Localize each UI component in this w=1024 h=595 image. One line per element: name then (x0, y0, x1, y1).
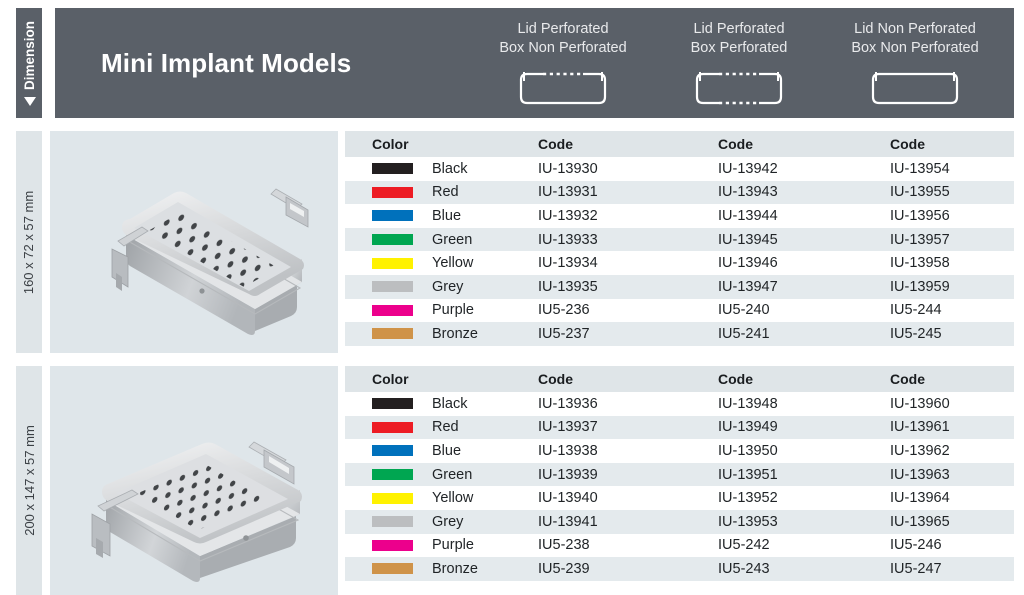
cell-color: Bronze (345, 326, 538, 342)
cell-code-2: IU5-242 (718, 536, 890, 554)
dimension-tab-label: Dimension (22, 20, 37, 89)
dimension-label-section-1: 160 x 72 x 57 mm (16, 131, 42, 353)
color-name: Green (432, 232, 472, 248)
cell-code-2: IU-13942 (718, 160, 890, 178)
cell-code-1: IU-13939 (538, 466, 718, 484)
column-header-color: Color (345, 136, 538, 152)
cell-code-2: IU5-240 (718, 301, 890, 319)
table-row[interactable]: RedIU-13931IU-13943IU-13955 (345, 181, 1014, 205)
cell-code-1: IU-13932 (538, 207, 718, 225)
cell-code-2: IU-13943 (718, 183, 890, 201)
cell-code-3: IU-13962 (890, 442, 1014, 460)
header-column-lid-perforated-box-non-perforated: Lid Perforated Box Non Perforated (475, 8, 651, 118)
header-column-line2: Box Non Perforated (499, 39, 626, 58)
color-swatch-icon (372, 493, 413, 504)
color-swatch-icon (372, 398, 413, 409)
cell-code-1: IU5-238 (538, 536, 718, 554)
color-swatch-icon (372, 445, 413, 456)
column-header-code-3: Code (890, 371, 1014, 387)
color-name: Yellow (432, 255, 473, 271)
color-swatch-icon (372, 305, 413, 316)
page-header: Mini Implant Models Lid Perforated Box N… (55, 8, 1014, 118)
cell-code-3: IU-13963 (890, 466, 1014, 484)
cell-code-3: IU-13957 (890, 231, 1014, 249)
table-row[interactable]: GreenIU-13939IU-13951IU-13963 (345, 463, 1014, 487)
table-row[interactable]: BronzeIU5-239IU5-243IU5-247 (345, 557, 1014, 581)
cell-color: Black (345, 161, 538, 177)
cell-code-3: IU-13961 (890, 418, 1014, 436)
cell-color: Green (345, 232, 538, 248)
color-name: Purple (432, 537, 474, 553)
product-photo-section-1 (50, 131, 338, 353)
cell-code-3: IU-13955 (890, 183, 1014, 201)
cell-code-1: IU-13930 (538, 160, 718, 178)
color-swatch-icon (372, 469, 413, 480)
cell-code-1: IU-13938 (538, 442, 718, 460)
cell-code-3: IU-13965 (890, 513, 1014, 531)
cell-code-2: IU-13945 (718, 231, 890, 249)
column-header-code-3: Code (890, 136, 1014, 152)
cell-code-2: IU5-243 (718, 560, 890, 578)
table-row[interactable]: PurpleIU5-236IU5-240IU5-244 (345, 299, 1014, 323)
cell-color: Bronze (345, 561, 538, 577)
cell-code-1: IU5-236 (538, 301, 718, 319)
cell-code-1: IU-13933 (538, 231, 718, 249)
table-row[interactable]: BlueIU-13932IU-13944IU-13956 (345, 204, 1014, 228)
color-swatch-icon (372, 516, 413, 527)
table-row[interactable]: YellowIU-13940IU-13952IU-13964 (345, 486, 1014, 510)
table-row[interactable]: RedIU-13937IU-13949IU-13961 (345, 416, 1014, 440)
cell-code-2: IU5-241 (718, 325, 890, 343)
color-name: Blue (432, 443, 461, 459)
cell-code-1: IU5-237 (538, 325, 718, 343)
color-name: Green (432, 467, 472, 483)
cell-code-3: IU5-247 (890, 560, 1014, 578)
product-table-section-1: ColorCodeCodeCodeBlackIU-13930IU-13942IU… (345, 131, 1014, 346)
cell-code-1: IU-13934 (538, 254, 718, 272)
cell-code-3: IU5-246 (890, 536, 1014, 554)
cell-code-3: IU-13954 (890, 160, 1014, 178)
dimension-label-section-2: 200 x 147 x 57 mm (16, 366, 42, 595)
cell-color: Purple (345, 537, 538, 553)
cell-color: Red (345, 184, 538, 200)
cell-code-1: IU5-239 (538, 560, 718, 578)
header-column-line1: Lid Non Perforated (854, 20, 976, 39)
column-header-code-2: Code (718, 136, 890, 152)
column-header-code-1: Code (538, 371, 718, 387)
color-swatch-icon (372, 281, 413, 292)
product-table-section-2: ColorCodeCodeCodeBlackIU-13936IU-13948IU… (345, 366, 1014, 581)
dimension-tab[interactable]: Dimension (16, 8, 42, 118)
table-row[interactable]: GreenIU-13933IU-13945IU-13957 (345, 228, 1014, 252)
cell-code-2: IU-13950 (718, 442, 890, 460)
cell-color: Yellow (345, 255, 538, 271)
header-column-group: Lid Perforated Box Non Perforated Lid Pe… (475, 8, 1003, 118)
header-column-lid-non-perforated-box-non-perforated: Lid Non Perforated Box Non Perforated (827, 8, 1003, 118)
column-header-color: Color (345, 371, 538, 387)
cell-code-1: IU-13937 (538, 418, 718, 436)
header-column-lid-perforated-box-perforated: Lid Perforated Box Perforated (651, 8, 827, 118)
color-swatch-icon (372, 328, 413, 339)
table-row[interactable]: BlackIU-13930IU-13942IU-13954 (345, 157, 1014, 181)
color-swatch-icon (372, 234, 413, 245)
cell-code-1: IU-13940 (538, 489, 718, 507)
header-column-line1: Lid Perforated (693, 20, 784, 39)
color-swatch-icon (372, 210, 413, 221)
table-row[interactable]: PurpleIU5-238IU5-242IU5-246 (345, 534, 1014, 558)
color-name: Black (432, 161, 467, 177)
cell-color: Purple (345, 302, 538, 318)
column-header-code-1: Code (538, 136, 718, 152)
cell-color: Red (345, 419, 538, 435)
cell-code-2: IU-13952 (718, 489, 890, 507)
table-header-row: ColorCodeCodeCode (345, 366, 1014, 392)
cell-code-2: IU-13944 (718, 207, 890, 225)
table-row[interactable]: BlackIU-13936IU-13948IU-13960 (345, 392, 1014, 416)
table-row[interactable]: GreyIU-13941IU-13953IU-13965 (345, 510, 1014, 534)
color-name: Red (432, 419, 459, 435)
color-name: Black (432, 396, 467, 412)
color-name: Bronze (432, 326, 478, 342)
color-name: Red (432, 184, 459, 200)
cell-code-3: IU-13959 (890, 278, 1014, 296)
box-lid-perforated-icon (515, 67, 611, 114)
table-row[interactable]: BlueIU-13938IU-13950IU-13962 (345, 439, 1014, 463)
color-name: Grey (432, 279, 463, 295)
table-row[interactable]: GreyIU-13935IU-13947IU-13959 (345, 275, 1014, 299)
cell-code-3: IU-13964 (890, 489, 1014, 507)
color-name: Grey (432, 514, 463, 530)
page-title: Mini Implant Models (101, 48, 351, 79)
cell-color: Blue (345, 443, 538, 459)
header-column-line2: Box Perforated (691, 39, 788, 58)
cell-code-3: IU-13956 (890, 207, 1014, 225)
header-column-line1: Lid Perforated (517, 20, 608, 39)
box-lid-and-box-perforated-icon (691, 67, 787, 114)
column-header-code-2: Code (718, 371, 890, 387)
cell-code-2: IU-13951 (718, 466, 890, 484)
header-column-line2: Box Non Perforated (851, 39, 978, 58)
cell-code-2: IU-13949 (718, 418, 890, 436)
cell-color: Grey (345, 514, 538, 530)
cell-color: Yellow (345, 490, 538, 506)
color-swatch-icon (372, 422, 413, 433)
box-non-perforated-icon (867, 67, 963, 114)
color-name: Bronze (432, 561, 478, 577)
color-name: Yellow (432, 490, 473, 506)
cell-color: Grey (345, 279, 538, 295)
cell-code-2: IU-13953 (718, 513, 890, 531)
cell-color: Green (345, 467, 538, 483)
color-swatch-icon (372, 258, 413, 269)
cell-code-3: IU5-245 (890, 325, 1014, 343)
cell-code-1: IU-13936 (538, 395, 718, 413)
table-row[interactable]: BronzeIU5-237IU5-241IU5-245 (345, 322, 1014, 346)
cell-code-3: IU5-244 (890, 301, 1014, 319)
cell-color: Black (345, 396, 538, 412)
cell-code-1: IU-13931 (538, 183, 718, 201)
cell-code-2: IU-13947 (718, 278, 890, 296)
color-swatch-icon (372, 187, 413, 198)
cell-code-1: IU-13935 (538, 278, 718, 296)
cell-code-1: IU-13941 (538, 513, 718, 531)
cell-code-3: IU-13958 (890, 254, 1014, 272)
cell-code-3: IU-13960 (890, 395, 1014, 413)
cell-color: Blue (345, 208, 538, 224)
table-header-row: ColorCodeCodeCode (345, 131, 1014, 157)
triangle-down-icon (23, 97, 35, 106)
color-name: Purple (432, 302, 474, 318)
product-photo-section-2 (50, 366, 338, 595)
cell-code-2: IU-13948 (718, 395, 890, 413)
color-swatch-icon (372, 540, 413, 551)
table-row[interactable]: YellowIU-13934IU-13946IU-13958 (345, 251, 1014, 275)
cell-code-2: IU-13946 (718, 254, 890, 272)
color-swatch-icon (372, 563, 413, 574)
color-name: Blue (432, 208, 461, 224)
color-swatch-icon (372, 163, 413, 174)
